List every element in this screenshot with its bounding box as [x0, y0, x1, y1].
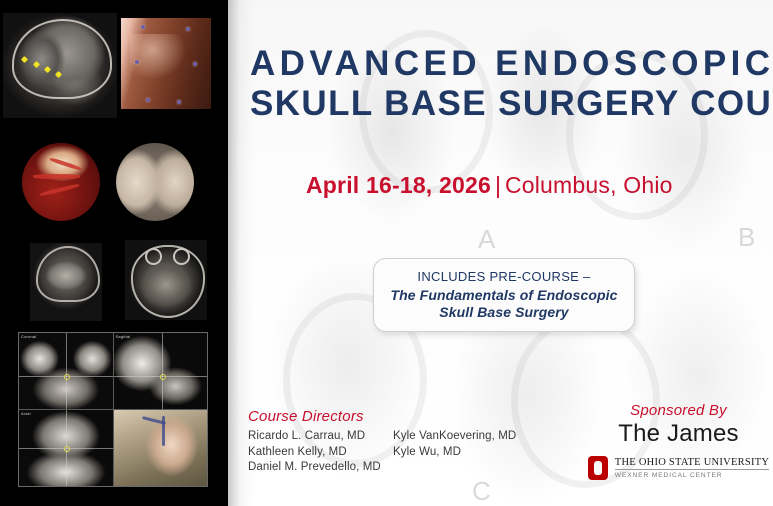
- precourse-callout-box: INCLUDES PRE-COURSE – The Fundamentals o…: [373, 258, 635, 332]
- medical-center-name: WEXNER MEDICAL CENTER: [615, 470, 769, 479]
- director-name: Kyle Wu, MD: [393, 445, 516, 461]
- background-letter-a: A: [478, 224, 495, 255]
- image-collage-panel: Coronal Sagittal Axial: [0, 0, 228, 506]
- sponsor-name: The James: [586, 420, 771, 448]
- event-location: Columbus, Ohio: [505, 172, 673, 198]
- precourse-heading: INCLUDES PRE-COURSE –: [417, 269, 590, 284]
- axial-mri-image: [125, 240, 207, 320]
- director-name: Kyle VanKoevering, MD: [393, 429, 516, 445]
- skull-outline: [131, 245, 206, 318]
- sponsor-section: Sponsored By The James THE OHIO STATE UN…: [586, 402, 771, 480]
- precourse-title-line-1: The Fundamentals of Endoscopic: [390, 287, 617, 304]
- endoscopic-surgical-image: [121, 18, 211, 109]
- background-letter-c: C: [472, 476, 491, 506]
- page-title: ADVANCED ENDOSCOPIC SKULL BASE SURGERY C…: [250, 44, 760, 124]
- precourse-title-line-2: Skull Base Surgery: [439, 304, 568, 321]
- navigation-coronal-label: Coronal: [21, 334, 36, 339]
- directors-column-2: Kyle VanKoevering, MD Kyle Wu, MD: [393, 429, 516, 476]
- sagittal-mri-image: [3, 13, 117, 118]
- content-panel: A B C ADVANCED ENDOSCOPIC SKULL BASE SUR…: [228, 0, 773, 506]
- navigation-sagittal-ct: Sagittal: [114, 333, 208, 409]
- course-directors-columns: Ricardo L. Carrau, MD Kathleen Kelly, MD…: [248, 429, 548, 476]
- logo-text: THE OHIO STATE UNIVERSITY WEXNER MEDICAL…: [615, 457, 769, 480]
- navigation-axial-label: Axial: [21, 411, 31, 416]
- directors-column-1: Ricardo L. Carrau, MD Kathleen Kelly, MD…: [248, 429, 393, 476]
- title-line-1: ADVANCED ENDOSCOPIC: [250, 44, 760, 84]
- tissue-highlight: [130, 34, 186, 80]
- course-directors-section: Course Directors Ricardo L. Carrau, MD K…: [248, 408, 548, 476]
- surgical-navigation-panel: Coronal Sagittal Axial: [18, 332, 208, 487]
- university-name: THE OHIO STATE UNIVERSITY: [615, 457, 769, 471]
- event-date-location: April 16-18, 2026|Columbus, Ohio: [306, 172, 673, 199]
- director-name: Daniel M. Prevedello, MD: [248, 460, 393, 476]
- endoscopic-anatomy-image: [116, 143, 194, 221]
- endoscopic-vascular-image: [22, 143, 100, 221]
- date-separator: |: [491, 172, 505, 198]
- background-letter-b: B: [738, 222, 755, 253]
- director-name: Kathleen Kelly, MD: [248, 445, 393, 461]
- event-dates: April 16-18, 2026: [306, 172, 491, 198]
- coronal-mri-image: [30, 243, 102, 321]
- navigation-sagittal-label: Sagittal: [116, 334, 131, 339]
- sponsored-by-label: Sponsored By: [586, 402, 771, 419]
- ohio-state-logo: THE OHIO STATE UNIVERSITY WEXNER MEDICAL…: [586, 456, 771, 480]
- director-name: Ricardo L. Carrau, MD: [248, 429, 393, 445]
- yellow-arrow-markers: [21, 55, 69, 82]
- navigation-coronal-ct: Coronal: [19, 333, 113, 409]
- navigation-axial-ct: Axial: [19, 410, 113, 486]
- course-directors-heading: Course Directors: [248, 408, 548, 425]
- skull-outline: [36, 246, 100, 301]
- title-line-2: SKULL BASE SURGERY COURSE: [250, 84, 760, 124]
- navigation-endoscope-view: [114, 410, 208, 486]
- course-flyer: Coronal Sagittal Axial: [0, 0, 773, 506]
- block-o-icon: [588, 456, 608, 480]
